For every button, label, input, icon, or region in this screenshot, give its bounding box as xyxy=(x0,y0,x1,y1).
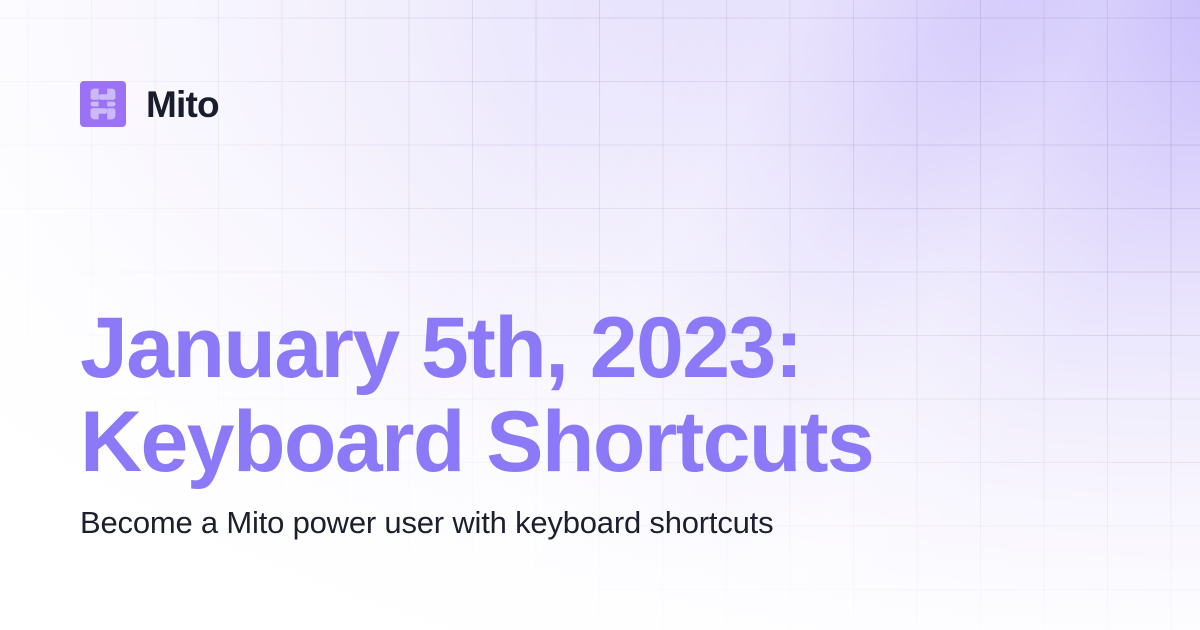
brand-lockup[interactable]: Mito xyxy=(80,81,219,127)
brand-name: Mito xyxy=(146,86,219,123)
card-content: Mito January 5th, 2023: Keyboard Shortcu… xyxy=(0,0,1200,630)
page-subtitle: Become a Mito power user with keyboard s… xyxy=(80,501,780,545)
mito-logo-icon xyxy=(80,81,126,127)
page-title: January 5th, 2023: Keyboard Shortcuts xyxy=(80,301,1080,489)
social-card: Mito January 5th, 2023: Keyboard Shortcu… xyxy=(0,0,1200,630)
